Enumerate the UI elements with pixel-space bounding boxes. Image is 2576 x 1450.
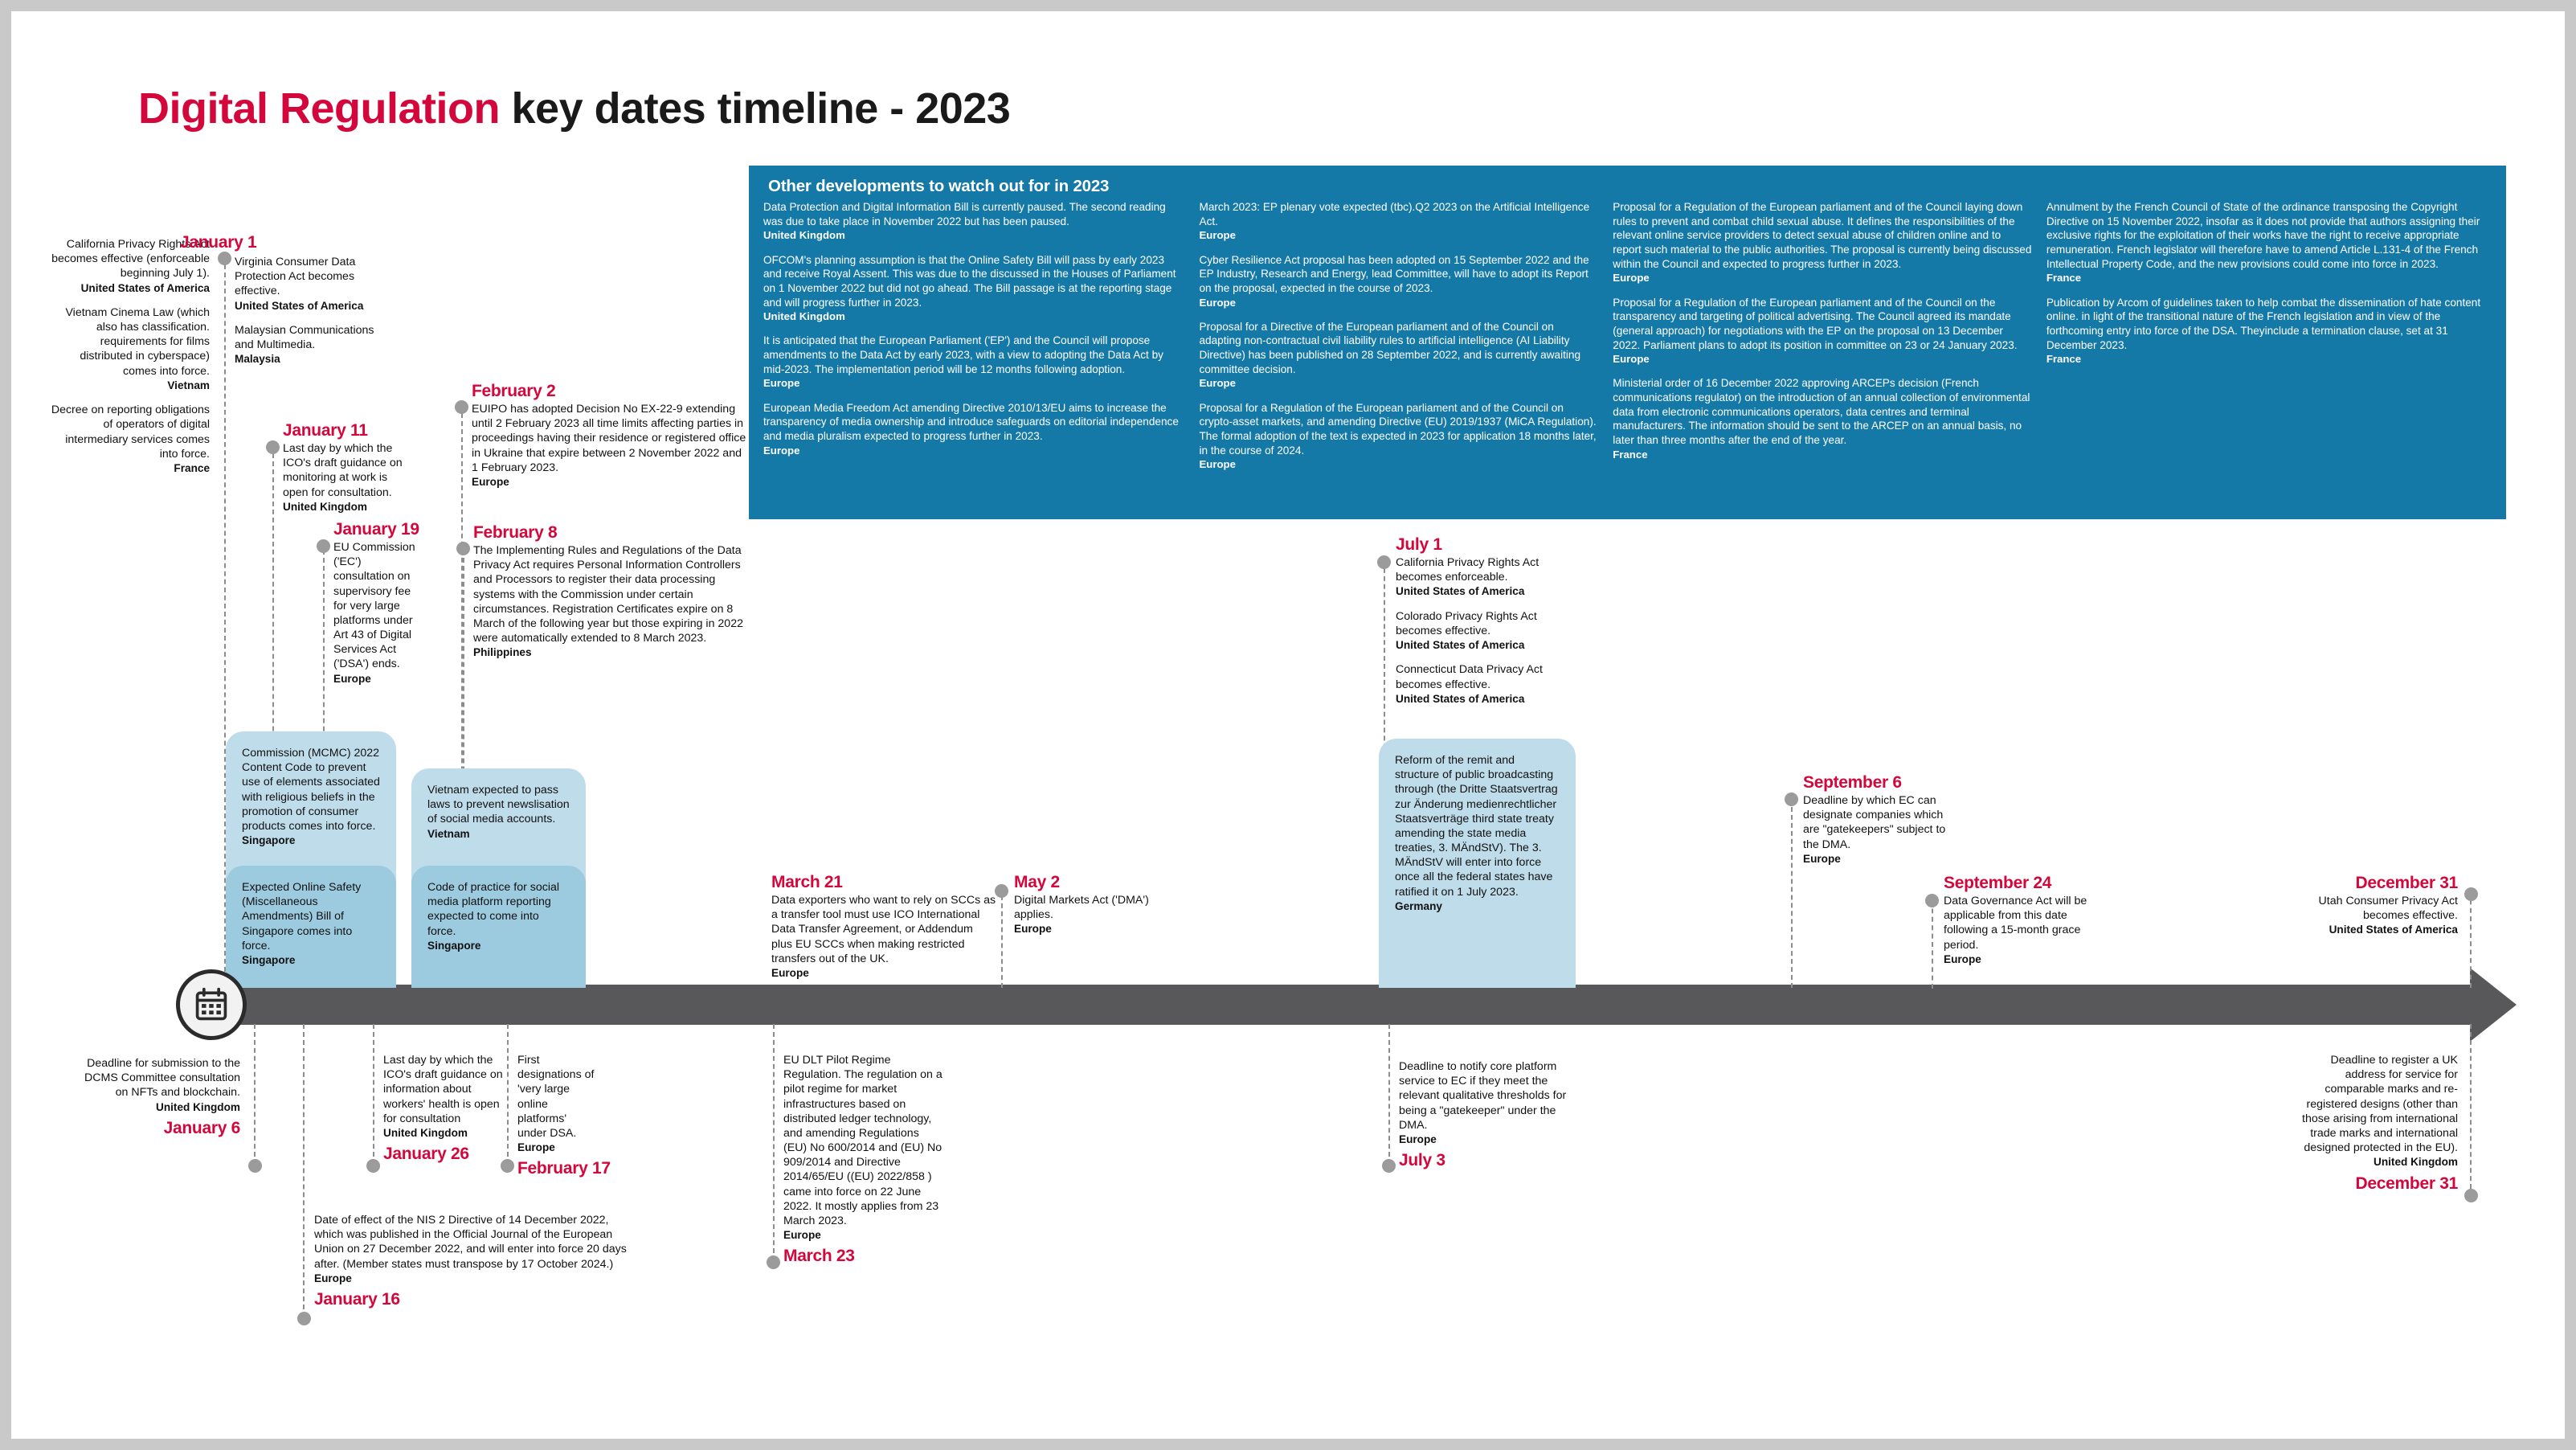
development-text: Annulment by the French Council of State… xyxy=(2046,200,2492,271)
event-september-24: September 24 Data Governance Act will be… xyxy=(1944,874,2096,966)
timeline-dot-dec31-top xyxy=(2464,887,2478,901)
event-country: Europe xyxy=(783,1228,944,1242)
event-january-1-right: Virginia Consumer Data Protection Act be… xyxy=(235,255,378,367)
development-text: Proposal for a Regulation of the Europea… xyxy=(1613,296,2032,353)
connector-stem-jan26 xyxy=(373,1024,374,1165)
development-text: Data Protection and Digital Information … xyxy=(763,200,1185,228)
card-text: Vietnam expected to pass laws to prevent… xyxy=(427,783,570,827)
development-item: Proposal for a Regulation of the Europea… xyxy=(1200,401,1599,472)
event-march-21: March 21 Data exporters who want to rely… xyxy=(771,873,996,980)
development-text: Proposal for a Regulation of the Europea… xyxy=(1200,401,1599,458)
event-country: Europe xyxy=(1944,952,2096,966)
development-item: Annulment by the French Council of State… xyxy=(2046,200,2492,285)
development-item: Proposal for a Directive of the European… xyxy=(1200,320,1599,391)
event-february-8: February 8 The Implementing Rules and Re… xyxy=(473,523,746,660)
development-text: Publication by Arcom of guidelines taken… xyxy=(2046,296,2492,353)
connector-stem-sep6 xyxy=(1791,799,1793,988)
developments-column-3: Proposal for a Regulation of the Europea… xyxy=(1613,200,2046,472)
development-item: OFCOM's planning assumption is that the … xyxy=(763,253,1185,324)
developments-column-1: Data Protection and Digital Information … xyxy=(763,200,1200,468)
timeline-dot-mar23 xyxy=(767,1255,780,1269)
connector-stem-mar21 xyxy=(1001,887,1003,988)
event-text: Date of effect of the NIS 2 Directive of… xyxy=(314,1213,636,1272)
event-text: Malaysian Communications and Multimedia. xyxy=(235,323,378,352)
development-item: Proposal for a Regulation of the Europea… xyxy=(1613,200,2032,285)
event-september-6: September 6 Deadline by which EC can des… xyxy=(1803,773,1956,866)
development-item: March 2023: EP plenary vote expected (tb… xyxy=(1200,200,1599,243)
developments-column-2: March 2023: EP plenary vote expected (tb… xyxy=(1200,200,1613,481)
event-march-23: EU DLT Pilot Regime Regulation. The regu… xyxy=(783,1053,944,1267)
timeline-dot-feb8 xyxy=(456,542,470,555)
event-country: United Kingdom xyxy=(84,1100,240,1114)
event-january-19: January 19 EU Commission ('EC') consulta… xyxy=(333,520,418,686)
event-july-3: Deadline to notify core platform service… xyxy=(1399,1059,1568,1171)
event-country: United States of America xyxy=(1396,692,1564,706)
event-country: United States of America xyxy=(2293,923,2458,936)
card-country: Singapore xyxy=(427,939,570,952)
event-july-1: July 1 California Privacy Rights Act bec… xyxy=(1396,535,1564,706)
card-country: Vietnam xyxy=(427,827,570,841)
development-country: France xyxy=(2046,271,2492,285)
event-date: January 1 xyxy=(180,233,357,252)
other-developments-panel: Other developments to watch out for in 2… xyxy=(749,166,2506,519)
timeline-dot-feb17 xyxy=(501,1159,514,1173)
development-text: Proposal for a Directive of the European… xyxy=(1200,320,1599,377)
event-text: The Implementing Rules and Regulations o… xyxy=(473,543,746,645)
event-text: Last day by which the ICO's draft guidan… xyxy=(383,1053,504,1126)
event-date: January 16 xyxy=(314,1290,636,1309)
event-country: Philippines xyxy=(473,645,746,659)
event-text: Vietnam Cinema Law (which also has class… xyxy=(47,305,210,379)
development-item: Publication by Arcom of guidelines taken… xyxy=(2046,296,2492,367)
connector-stem-jul3 xyxy=(1388,1024,1390,1165)
event-date: January 19 xyxy=(333,520,418,539)
event-january-11: January 11 Last day by which the ICO's d… xyxy=(283,421,411,514)
development-country: Europe xyxy=(1613,352,2032,366)
development-item: European Media Freedom Act amending Dire… xyxy=(763,401,1185,457)
event-text: Deadline for submission to the DCMS Comm… xyxy=(84,1056,240,1100)
development-text: March 2023: EP plenary vote expected (tb… xyxy=(1200,200,1599,228)
event-date: February 8 xyxy=(473,523,746,543)
timeline-dot-jul1 xyxy=(1377,555,1391,569)
event-december-31-bottom: Deadline to register a UK address for se… xyxy=(2297,1053,2458,1194)
event-date: July 3 xyxy=(1399,1151,1568,1170)
event-text: Deadline to notify core platform service… xyxy=(1399,1059,1568,1133)
page-title: Digital Regulation key dates timeline - … xyxy=(138,84,1010,133)
event-country: Europe xyxy=(771,966,996,980)
event-date: May 2 xyxy=(1014,873,1159,892)
development-item: Cyber Resilience Act proposal has been a… xyxy=(1200,253,1599,309)
development-item: Data Protection and Digital Information … xyxy=(763,200,1185,243)
card-online-safety: Expected Online Safety (Miscellaneous Am… xyxy=(226,866,396,988)
card-country: Singapore xyxy=(242,834,380,847)
connector-stem-jan16 xyxy=(303,1024,305,1317)
event-date: September 24 xyxy=(1944,874,2096,893)
development-country: Europe xyxy=(763,376,1185,390)
event-text: Deadline by which EC can designate compa… xyxy=(1803,793,1956,852)
other-developments-columns: Data Protection and Digital Information … xyxy=(763,200,2492,481)
other-developments-heading: Other developments to watch out for in 2… xyxy=(768,177,2492,196)
timeline-dot-sep6 xyxy=(1785,793,1798,806)
event-date: January 26 xyxy=(383,1145,504,1164)
event-country: Vietnam xyxy=(47,379,210,392)
event-text: EU DLT Pilot Regime Regulation. The regu… xyxy=(783,1053,944,1228)
event-country: Malaysia xyxy=(235,352,378,366)
connector-stem-dec31-bottom xyxy=(2470,1024,2472,1197)
connector-stem-sep24 xyxy=(1932,900,1933,989)
event-date: February 2 xyxy=(472,382,747,401)
card-text: Reform of the remit and structure of pub… xyxy=(1395,753,1560,899)
event-text: Virginia Consumer Data Protection Act be… xyxy=(235,255,378,299)
card-country: Singapore xyxy=(242,953,380,967)
event-february-2: February 2 EUIPO has adopted Decision No… xyxy=(472,382,747,489)
development-country: Europe xyxy=(1200,228,1599,242)
timeline-dot-jan1 xyxy=(218,252,231,265)
event-country: United Kingdom xyxy=(283,500,411,514)
development-item: Ministerial order of 16 December 2022 ap… xyxy=(1613,376,2032,461)
event-date: December 31 xyxy=(2297,1174,2458,1194)
event-country: United States of America xyxy=(47,281,210,295)
event-text: California Privacy Rights Act becomes en… xyxy=(1396,555,1564,584)
event-date: September 6 xyxy=(1803,773,1956,793)
connector-stem-feb17 xyxy=(507,1024,509,1165)
development-item: It is anticipated that the European Parl… xyxy=(763,334,1185,390)
infographic-page: Digital Regulation key dates timeline - … xyxy=(11,11,2565,1439)
event-text: Deadline to register a UK address for se… xyxy=(2297,1053,2458,1155)
event-country: Europe xyxy=(517,1141,598,1154)
event-country: France xyxy=(47,461,210,475)
timeline-dot-jul3 xyxy=(1382,1159,1396,1173)
card-text: Expected Online Safety (Miscellaneous Am… xyxy=(242,880,380,953)
connector-stem-mar23 xyxy=(773,1024,775,1261)
event-date: February 17 xyxy=(517,1159,598,1178)
event-date: January 11 xyxy=(283,421,411,440)
title-rest: key dates timeline - 2023 xyxy=(500,84,1010,133)
timeline-dot-dec31-bottom xyxy=(2464,1189,2478,1202)
event-date: March 21 xyxy=(771,873,996,892)
event-may-2: May 2 Digital Markets Act ('DMA') applie… xyxy=(1014,873,1159,936)
development-country: France xyxy=(1613,448,2032,461)
development-country: Europe xyxy=(1200,296,1599,309)
development-text: Cyber Resilience Act proposal has been a… xyxy=(1200,253,1599,296)
event-january-26: Last day by which the ICO's draft guidan… xyxy=(383,1053,504,1165)
development-text: OFCOM's planning assumption is that the … xyxy=(763,253,1185,310)
event-december-31-top: December 31 Utah Consumer Privacy Act be… xyxy=(2293,874,2458,937)
event-country: United States of America xyxy=(1396,638,1564,652)
calendar-icon xyxy=(176,969,247,1040)
event-country: United States of America xyxy=(235,299,378,313)
development-item: Proposal for a Regulation of the Europea… xyxy=(1613,296,2032,367)
event-text: Data exporters who want to rely on SCCs … xyxy=(771,893,996,966)
connector-stem-jan6 xyxy=(254,1024,256,1165)
event-january-1-left: California Privacy Rights Act becomes ef… xyxy=(47,237,210,475)
development-text: Proposal for a Regulation of the Europea… xyxy=(1613,200,2032,271)
event-text: Data Governance Act will be applicable f… xyxy=(1944,894,2096,952)
timeline-bar xyxy=(211,985,2478,1025)
event-country: Europe xyxy=(472,475,747,489)
development-text: Ministerial order of 16 December 2022 ap… xyxy=(1613,376,2032,447)
event-text: Utah Consumer Privacy Act becomes effect… xyxy=(2293,894,2458,923)
event-text: Connecticut Data Privacy Act becomes eff… xyxy=(1396,662,1564,691)
event-text: Colorado Privacy Rights Act becomes effe… xyxy=(1396,609,1564,638)
event-january-1-date: January 1 xyxy=(180,233,357,253)
event-country: Europe xyxy=(1014,922,1159,936)
event-january-6: Deadline for submission to the DCMS Comm… xyxy=(84,1056,240,1139)
connector-stem-dec31-top xyxy=(2470,891,2472,988)
card-country: Germany xyxy=(1395,899,1560,913)
event-country: United Kingdom xyxy=(383,1126,504,1140)
event-date: July 1 xyxy=(1396,535,1564,555)
development-country: Europe xyxy=(1200,457,1599,471)
card-text: Code of practice for social media platfo… xyxy=(427,880,570,939)
event-country: Europe xyxy=(1803,852,1956,866)
development-country: United Kingdom xyxy=(763,228,1185,242)
event-date: December 31 xyxy=(2293,874,2458,893)
event-text: EUIPO has adopted Decision No EX-22-9 ex… xyxy=(472,402,747,475)
timeline-dot-feb2 xyxy=(455,400,468,414)
event-country: United Kingdom xyxy=(2297,1155,2458,1169)
card-text: Commission (MCMC) 2022 Content Code to p… xyxy=(242,746,380,834)
event-text: EU Commission ('EC') consultation on sup… xyxy=(333,540,418,672)
developments-column-4: Annulment by the French Council of State… xyxy=(2046,200,2492,376)
timeline-arrowhead xyxy=(2470,968,2517,1042)
development-country: Europe xyxy=(763,444,1185,457)
event-country: United States of America xyxy=(1396,584,1564,598)
development-country: France xyxy=(2046,352,2492,366)
timeline-dot-jan19 xyxy=(317,539,330,553)
timeline-dot-jan16 xyxy=(297,1312,311,1325)
event-date: March 23 xyxy=(783,1247,944,1266)
development-country: Europe xyxy=(1613,271,2032,285)
event-text: Last day by which the ICO's draft guidan… xyxy=(283,441,411,500)
event-february-17: First designations of 'very large online… xyxy=(517,1053,598,1179)
development-text: It is anticipated that the European Parl… xyxy=(763,334,1185,376)
event-text: Digital Markets Act ('DMA') applies. xyxy=(1014,893,1159,922)
timeline-dot-sep24 xyxy=(1925,894,1939,907)
timeline-dot-jan6 xyxy=(248,1159,262,1173)
development-country: United Kingdom xyxy=(763,309,1185,323)
event-text: Decree on reporting obligations of opera… xyxy=(47,403,210,461)
timeline-dot-jan26 xyxy=(366,1159,380,1173)
card-germany-broadcasting: Reform of the remit and structure of pub… xyxy=(1379,739,1576,988)
development-text: European Media Freedom Act amending Dire… xyxy=(763,401,1185,444)
timeline-dot-may2 xyxy=(995,884,1008,898)
timeline-dot-jan11 xyxy=(266,440,280,454)
event-country: Europe xyxy=(333,672,418,686)
development-country: Europe xyxy=(1200,376,1599,390)
event-january-16: Date of effect of the NIS 2 Directive of… xyxy=(314,1213,636,1310)
event-country: Europe xyxy=(1399,1133,1568,1146)
title-highlight: Digital Regulation xyxy=(138,84,500,133)
card-code-of-practice: Code of practice for social media platfo… xyxy=(411,866,586,988)
event-text: First designations of 'very large online… xyxy=(517,1053,598,1141)
event-date: January 6 xyxy=(84,1119,240,1138)
event-country: Europe xyxy=(314,1272,636,1285)
